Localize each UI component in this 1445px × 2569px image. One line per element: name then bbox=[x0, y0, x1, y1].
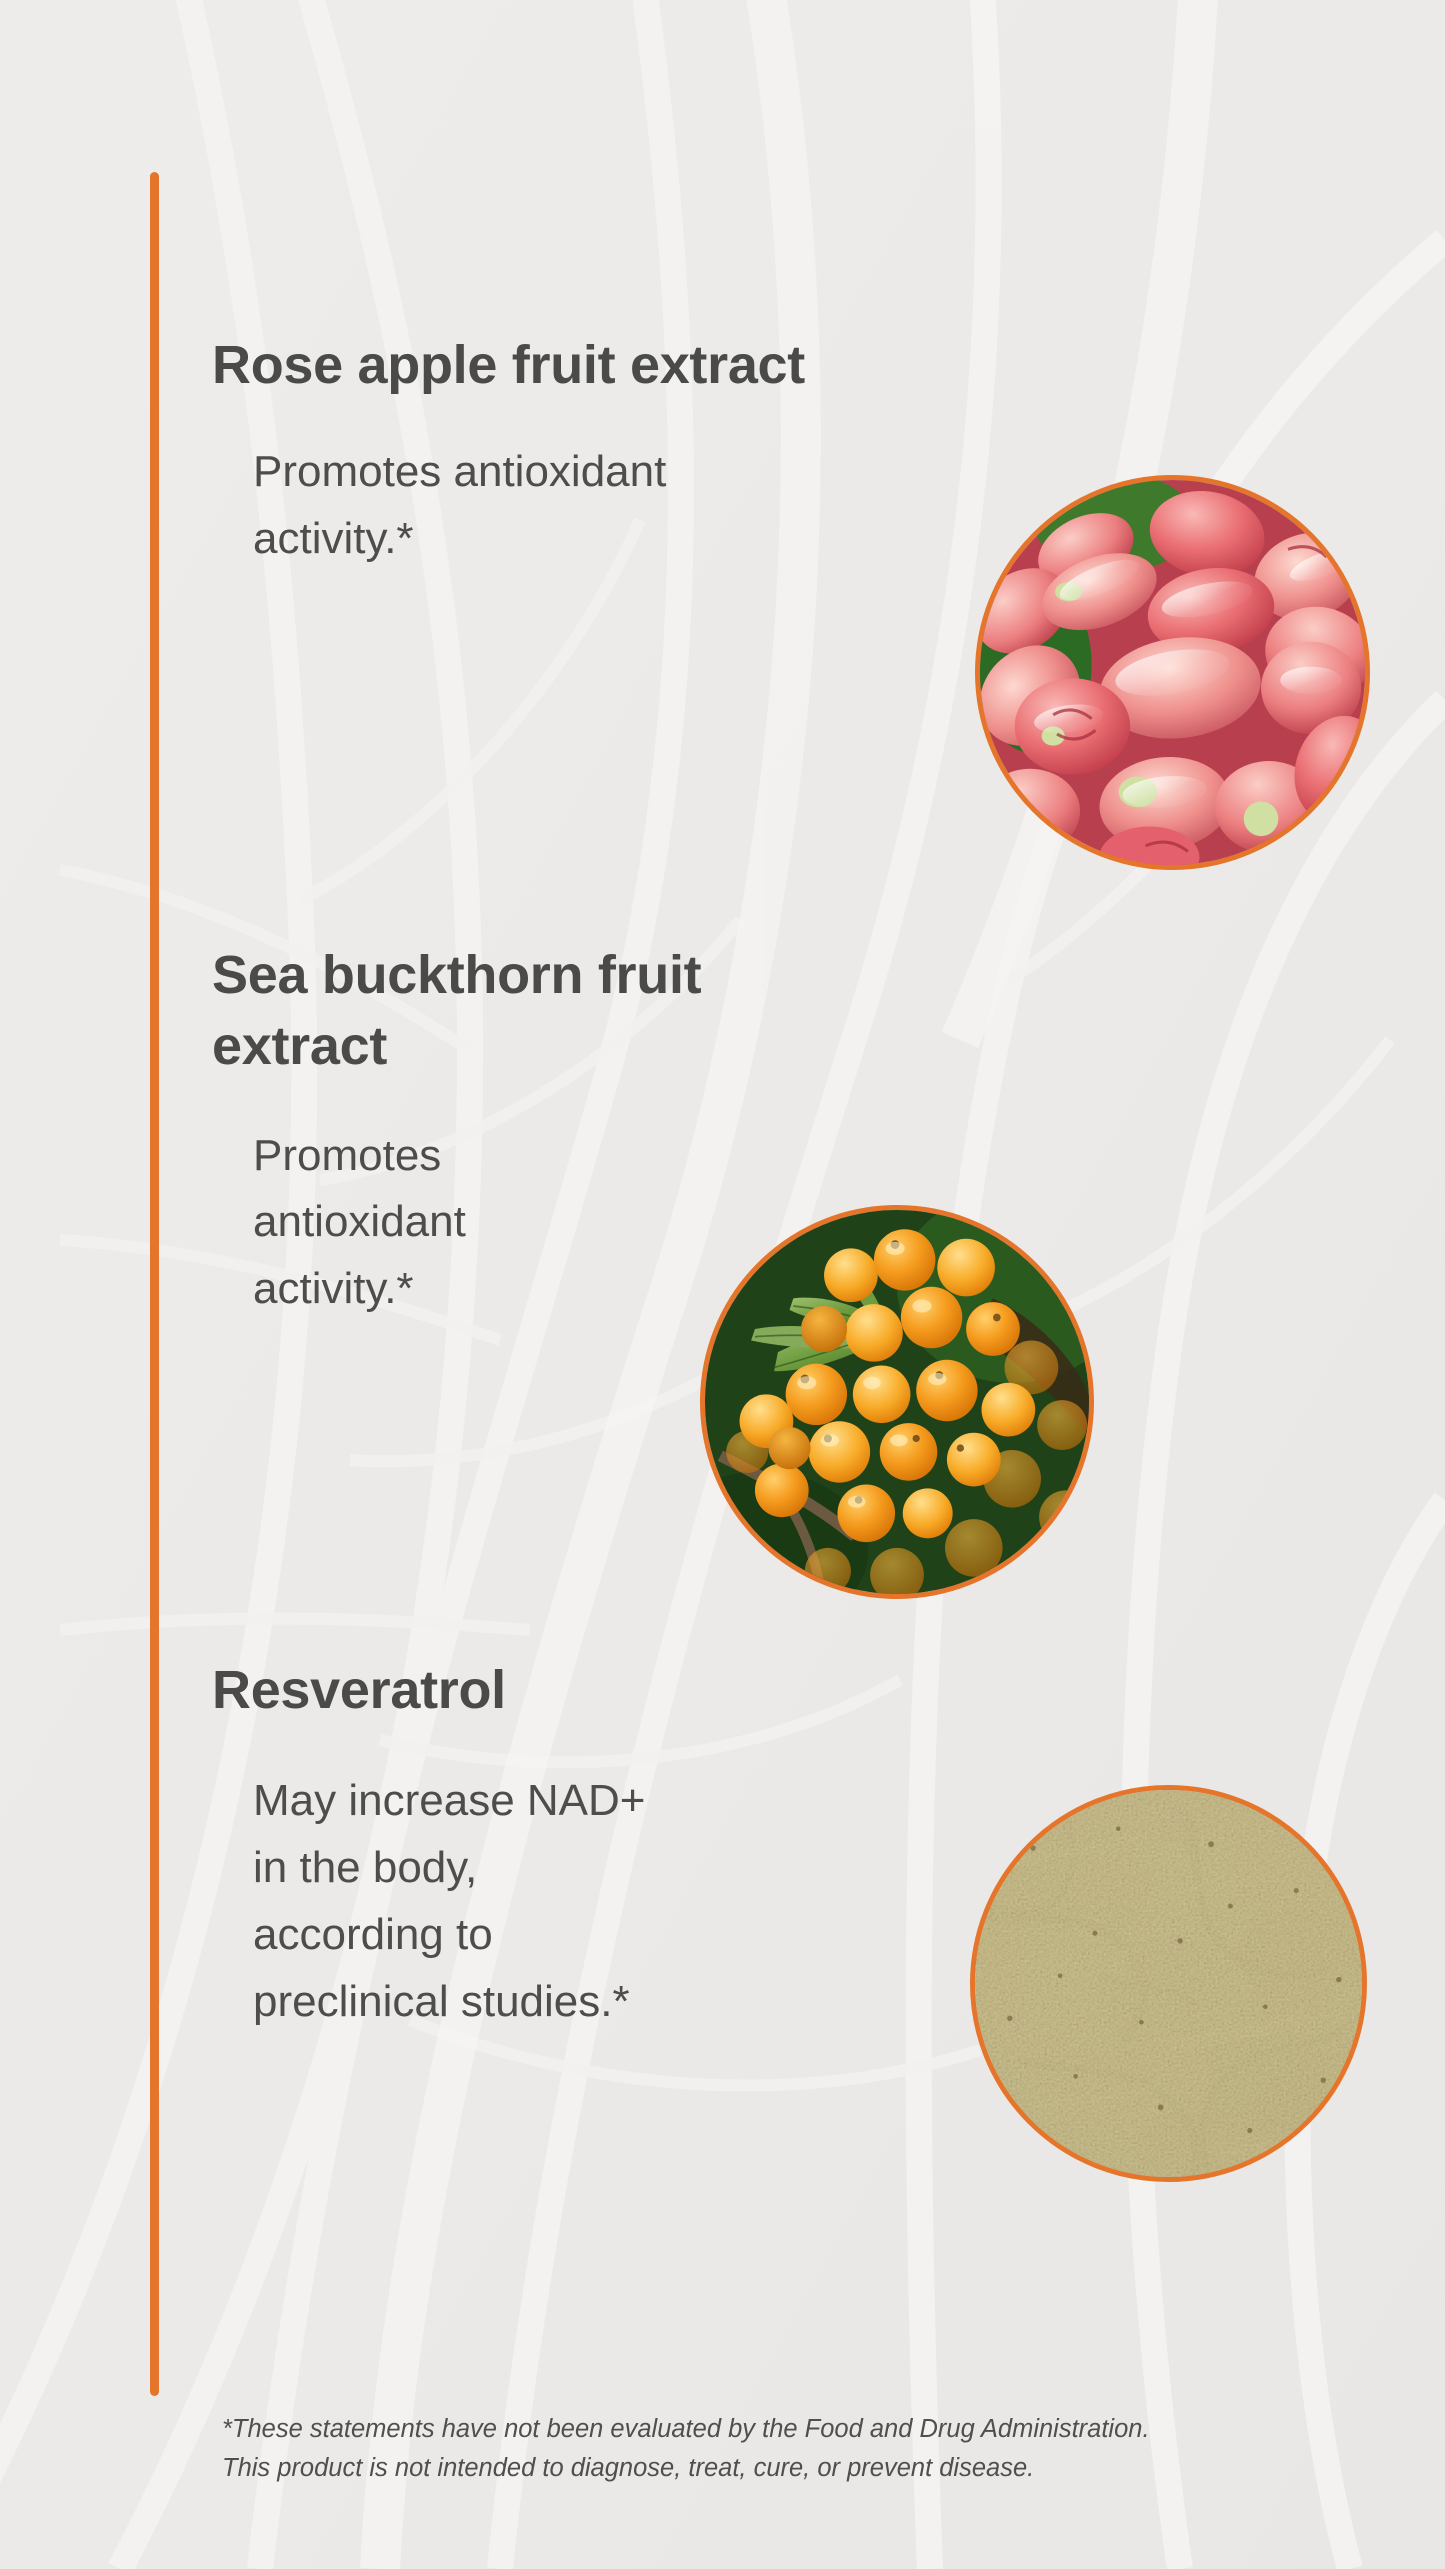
content-column: Rose apple fruit extract Promotes antiox… bbox=[0, 0, 1445, 2569]
section-heading-sea-buckthorn: Sea buckthorn fruit extract bbox=[212, 940, 732, 1083]
section-rose-apple: Rose apple fruit extract Promotes antiox… bbox=[212, 330, 805, 573]
resveratrol-powder-illustration bbox=[975, 1790, 1362, 2177]
section-body-resveratrol: May increase NAD+ in the body, according… bbox=[253, 1768, 653, 2036]
section-resveratrol: Resveratrol May increase NAD+ in the bod… bbox=[212, 1655, 653, 2036]
disclaimer-line-1: *These statements have not been evaluate… bbox=[222, 2410, 1342, 2449]
sea-buckthorn-berries-photo bbox=[700, 1205, 1094, 1599]
disclaimer-line-2: This product is not intended to diagnose… bbox=[222, 2449, 1342, 2488]
section-heading-resveratrol: Resveratrol bbox=[212, 1655, 653, 1726]
rose-apple-illustration bbox=[980, 480, 1365, 865]
section-sea-buckthorn: Sea buckthorn fruit extract Promotes ant… bbox=[212, 940, 732, 1323]
rose-apple-fruit-photo bbox=[975, 475, 1370, 870]
fda-disclaimer: *These statements have not been evaluate… bbox=[222, 2410, 1342, 2488]
section-heading-rose-apple: Rose apple fruit extract bbox=[212, 330, 805, 401]
section-body-rose-apple: Promotes antioxidant activity.* bbox=[253, 439, 723, 573]
sea-buckthorn-illustration bbox=[705, 1210, 1089, 1594]
ingredient-benefits-panel: Rose apple fruit extract Promotes antiox… bbox=[0, 0, 1445, 2569]
resveratrol-powder-photo bbox=[970, 1785, 1367, 2182]
section-body-sea-buckthorn: Promotes antioxidant activity.* bbox=[253, 1123, 503, 1324]
